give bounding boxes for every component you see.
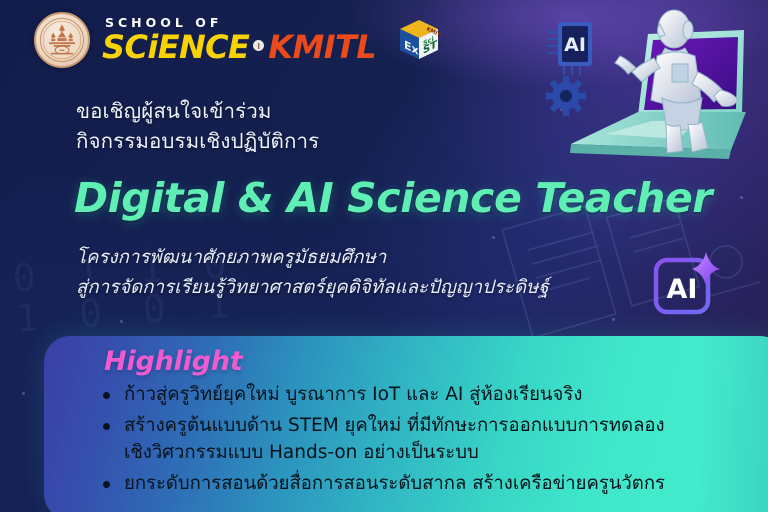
svg-text:AI: AI xyxy=(667,274,698,305)
poster-title: Digital & AI Science Teacher xyxy=(74,174,712,222)
robot-laptop-illustration: AI xyxy=(502,0,768,180)
bullet-text-line-1: ยกระดับการสอนด้วยสื่อการสอนระดับสากล สร้… xyxy=(124,473,665,494)
bullet-text-line-2: เชิงวิศวกรรมแบบ Hands-on อย่างเป็นระบบ xyxy=(124,440,730,466)
invitation-line-1: ขอเชิญผู้สนใจเข้าร่วม xyxy=(76,96,319,127)
highlight-panel: Highlight ก้าวสู่ครูวิทย์ยุคใหม่ บูรณากา… xyxy=(44,336,768,512)
highlight-heading: Highlight xyxy=(104,346,243,377)
brand-logo-row: SCHOOL OF SCiENCE KMITL KMITL Ex Sci ST xyxy=(34,12,442,68)
subtitle-line-1: โครงการพัฒนาศักยภาพครูมัธยมศึกษา xyxy=(76,243,549,273)
bullet-dot-icon xyxy=(103,392,110,399)
ai-badge-icon: AI xyxy=(650,248,724,322)
gear-icon xyxy=(546,76,586,116)
poster-canvas: 0 1 1 0 1 0 0 1 xyxy=(0,0,768,512)
bullet-text-line-1: สร้างครูต้นแบบด้าน STEM ยุคใหม่ ที่มีทัก… xyxy=(124,415,665,436)
kmitl-royal-seal-icon xyxy=(34,12,90,68)
list-item: สร้างครูต้นแบบด้าน STEM ยุคใหม่ ที่มีทัก… xyxy=(98,413,730,466)
kmitl-label: KMITL xyxy=(268,31,376,63)
school-of-science-wordmark: SCHOOL OF SCiENCE KMITL xyxy=(102,17,376,63)
highlight-bullet-list: ก้าวสู่ครูวิทย์ยุคใหม่ บูรณาการ IoT และ … xyxy=(98,382,730,502)
science-label: SCiENCE xyxy=(102,31,249,63)
list-item: ยกระดับการสอนด้วยสื่อการสอนระดับสากล สร้… xyxy=(98,471,730,497)
invitation-text: ขอเชิญผู้สนใจเข้าร่วม กิจกรรมอบรมเชิงปฏิ… xyxy=(76,96,319,157)
bullet-dot-icon xyxy=(103,481,110,488)
subtitle-line-2: สู่การจัดการเรียนรู้วิทยาศาสตร์ยุคดิจิทั… xyxy=(76,273,549,303)
invitation-line-2: กิจกรรมอบรมเชิงปฏิบัติการ xyxy=(76,126,319,157)
ai-chip-icon: AI xyxy=(548,22,592,75)
poster-subtitle: โครงการพัฒนาศักยภาพครูมัธยมศึกษา สู่การจ… xyxy=(76,243,549,302)
bullet-dot-icon xyxy=(103,423,110,430)
separator-dot-icon xyxy=(253,40,264,51)
bullet-text-line-1: ก้าวสู่ครูวิทย์ยุคใหม่ บูรณาการ IoT และ … xyxy=(124,384,582,405)
scist-cube-logo-icon: KMITL Ex Sci ST xyxy=(396,17,442,63)
list-item: ก้าวสู่ครูวิทย์ยุคใหม่ บูรณาการ IoT และ … xyxy=(98,382,730,408)
svg-text:AI: AI xyxy=(564,34,586,56)
